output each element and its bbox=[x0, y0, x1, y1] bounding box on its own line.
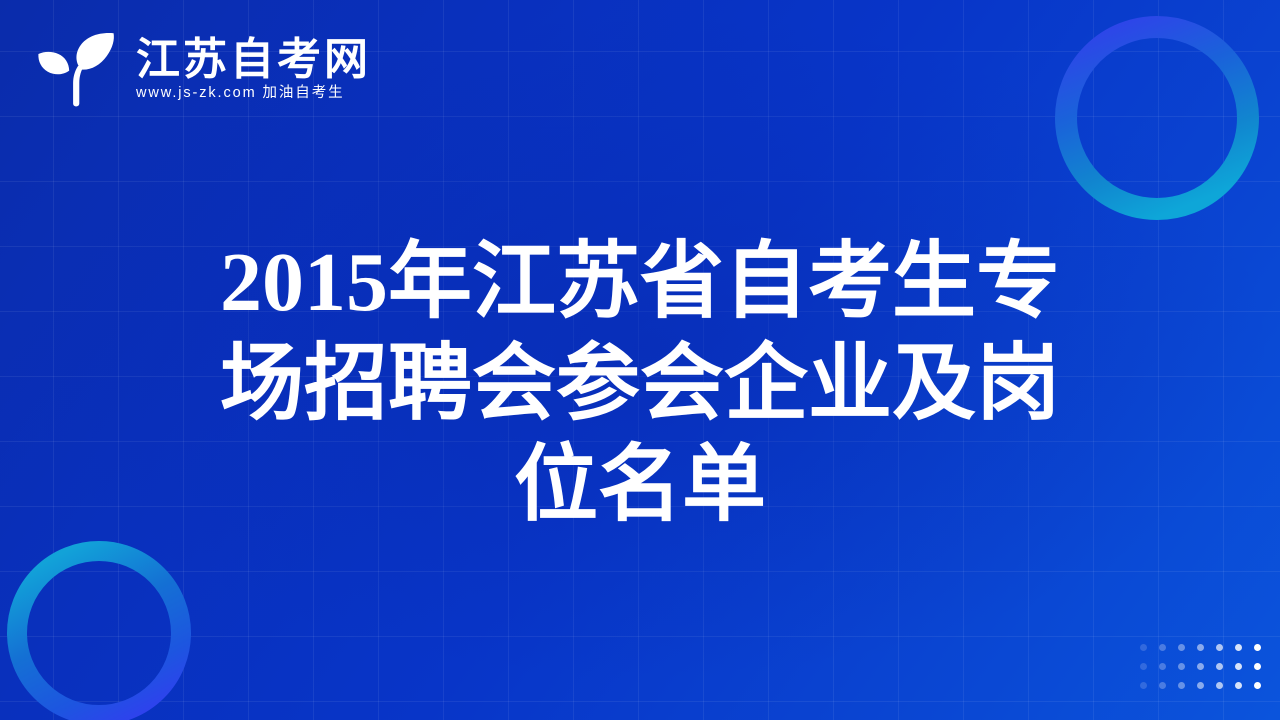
poster-canvas: 江苏自考网 www.js-zk.com 加油自考生 2015年江苏省自考生专场招… bbox=[0, 0, 1280, 720]
page-title: 2015年江苏省自考生专场招聘会参会企业及岗位名单 bbox=[190, 232, 1090, 537]
logo-name: 江苏自考网 bbox=[136, 38, 371, 82]
site-logo[interactable]: 江苏自考网 www.js-zk.com 加油自考生 bbox=[34, 30, 371, 108]
ring-top-right bbox=[1055, 16, 1259, 220]
logo-tagline: www.js-zk.com 加油自考生 bbox=[136, 86, 371, 101]
sprout-icon bbox=[34, 30, 122, 108]
page-title-container: 2015年江苏省自考生专场招聘会参会企业及岗位名单 bbox=[0, 232, 1280, 537]
dot-grid bbox=[1134, 638, 1267, 695]
ring-bottom-left bbox=[7, 541, 191, 720]
logo-text-block: 江苏自考网 www.js-zk.com 加油自考生 bbox=[136, 38, 371, 101]
